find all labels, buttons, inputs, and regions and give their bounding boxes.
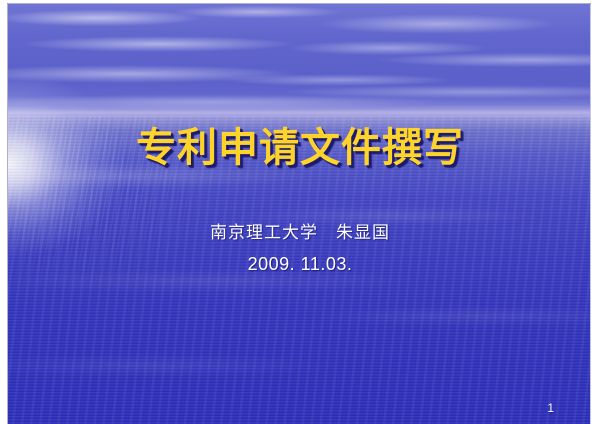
subtitle-date-line: 2009. 11.03. [0, 255, 600, 273]
slide-background-photo [8, 4, 590, 424]
slide-right-margin [590, 0, 600, 424]
sky-sea-gradient [8, 4, 590, 424]
slide-subtitle: 南京理工大学 朱显国 2009. 11.03. [0, 224, 600, 273]
subtitle-author-line: 南京理工大学 朱显国 [0, 224, 600, 241]
slide-top-border [7, 3, 591, 4]
slide-right-border [590, 3, 591, 424]
slide-left-border [7, 3, 8, 424]
slide-title: 专利申请文件撰写 [0, 126, 600, 170]
presentation-title-slide: 专利申请文件撰写 南京理工大学 朱显国 2009. 11.03. 1 [0, 0, 600, 424]
slide-page-number: 1 [547, 402, 554, 414]
